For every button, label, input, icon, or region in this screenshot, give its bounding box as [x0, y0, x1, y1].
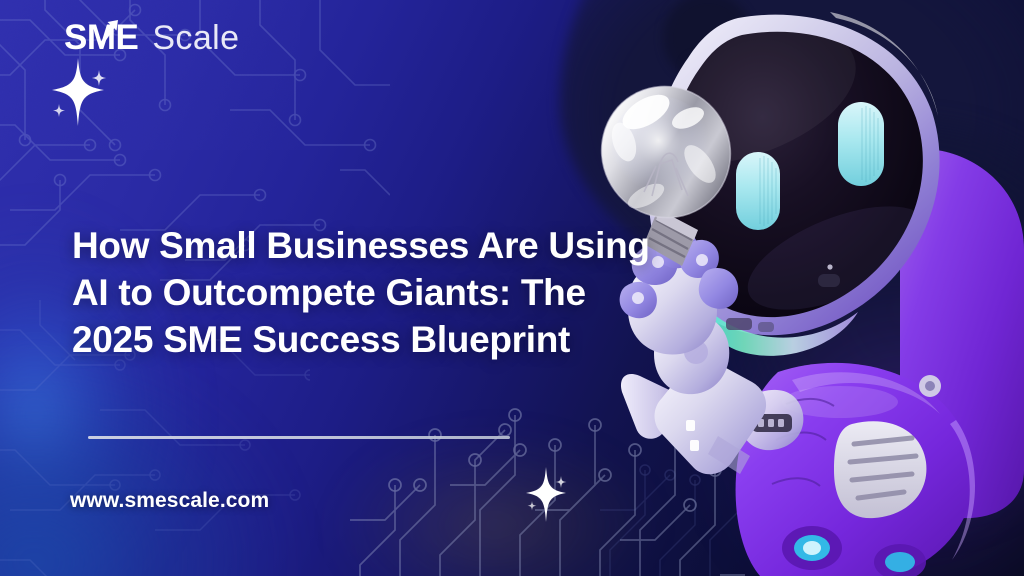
logo-mark: SME: [64, 20, 138, 55]
headline-line-1: How Small Businesses Are Using: [72, 222, 652, 269]
robot-eye-right: [838, 102, 884, 186]
brand-logo[interactable]: SME Scale: [64, 20, 239, 55]
hero-banner: SME Scale How Small Businesses Are Using…: [0, 0, 1024, 576]
robot-forearm-led-2: [690, 440, 699, 451]
ai-robot-illustration: [600, 0, 1024, 576]
page-title: How Small Businesses Are Using AI to Out…: [72, 222, 652, 363]
robot-chin-indicator: [818, 274, 840, 287]
divider-rule: [88, 436, 510, 439]
robot-eye-left: [736, 152, 780, 230]
upward-arrow-icon: [97, 16, 127, 46]
headline-line-3: 2025 SME Success Blueprint: [72, 316, 652, 363]
website-url[interactable]: www.smescale.com: [70, 489, 269, 513]
headline-line-2: AI to Outcompete Giants: The: [72, 269, 652, 316]
robot-forearm-led-1: [686, 420, 695, 431]
logo-secondary-text: Scale: [152, 21, 239, 55]
